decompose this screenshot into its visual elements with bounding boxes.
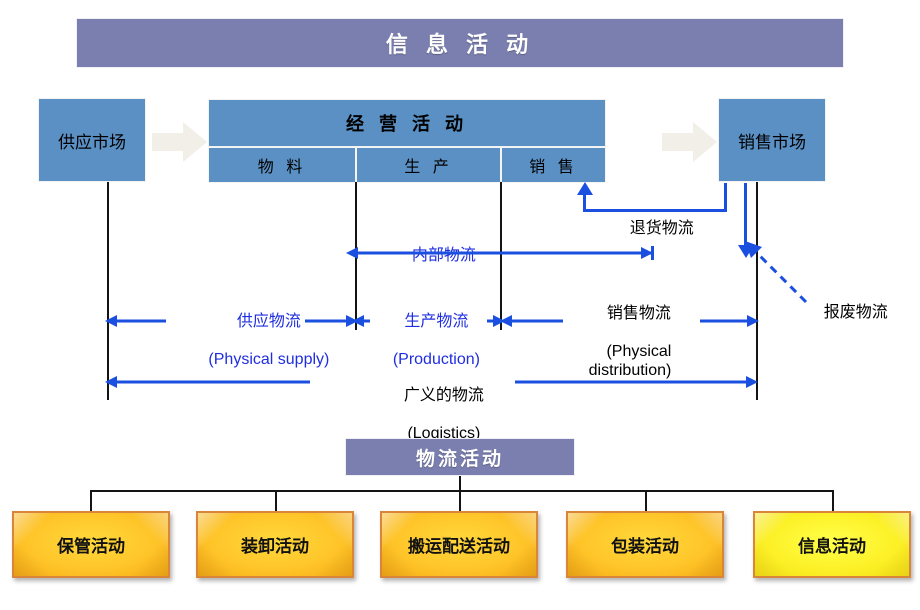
tree-horizontal-bar [90, 490, 834, 492]
diagram-canvas: 信 息 活 动 供应市场 经 营 活 动 物 料 生 产 销 售 销售市场 [0, 0, 920, 610]
scrap-logistics-label-text: 报废物流 [824, 304, 888, 321]
tree-branch-3 [459, 490, 461, 512]
sales-logistics-arrow-right-icon [700, 314, 760, 328]
sales-logistics-label-en: (Physical distribution) [589, 343, 672, 379]
production-logistics-arrow-left-icon [352, 314, 370, 328]
return-logistics-line-right [724, 183, 727, 212]
sales-logistics-arrow-left-icon [499, 314, 563, 328]
tree-branch-5 [832, 490, 834, 512]
business-to-sales-arrow-icon [662, 120, 718, 164]
activity-box-transport-delivery-label: 搬运配送活动 [408, 532, 510, 557]
supply-market-label: 供应市场 [58, 128, 126, 153]
supply-to-business-arrow-icon [152, 120, 208, 164]
sales-market-box[interactable]: 销售市场 [718, 98, 826, 182]
activity-box-storage[interactable]: 保管活动 [12, 511, 170, 578]
business-activity-header[interactable]: 经 营 活 动 [208, 99, 606, 147]
logistics-activity-banner: 物流活动 [345, 438, 575, 476]
business-column-production-label: 生 产 [404, 153, 452, 177]
activity-box-information[interactable]: 信息活动 [753, 511, 911, 578]
business-column-material-label: 物 料 [258, 153, 306, 177]
supply-logistics-label: 供应物流 (Physical supply) [175, 293, 345, 388]
activity-box-packaging[interactable]: 包装活动 [566, 511, 724, 578]
logistics-activity-banner-label: 物流活动 [416, 444, 504, 471]
tree-branch-1 [90, 490, 92, 512]
internal-logistics-arrow-icon [345, 246, 661, 260]
information-activity-banner-label: 信 息 活 动 [386, 27, 534, 59]
supply-logistics-arrow-right-icon [305, 314, 359, 328]
activity-box-packaging-label: 包装活动 [611, 532, 679, 557]
tree-branch-4 [645, 490, 647, 512]
activity-box-loading-label: 装卸活动 [241, 532, 309, 557]
activity-box-loading[interactable]: 装卸活动 [196, 511, 354, 578]
business-column-production[interactable]: 生 产 [356, 147, 501, 183]
return-logistics-label-text: 退货物流 [630, 220, 694, 237]
activity-box-storage-label: 保管活动 [57, 532, 125, 557]
activity-box-information-label: 信息活动 [798, 532, 866, 557]
broad-logistics-label-cn: 广义的物流 [404, 387, 484, 404]
business-column-sales[interactable]: 销 售 [501, 147, 606, 183]
business-activity-header-label: 经 营 活 动 [346, 110, 468, 136]
supply-logistics-label-cn: 供应物流 [237, 313, 301, 330]
sales-market-blue-drop-line [744, 183, 747, 247]
business-column-material[interactable]: 物 料 [208, 147, 356, 183]
broad-logistics-arrow-left-icon [104, 375, 310, 389]
sales-market-drop-arrowhead-icon [737, 243, 755, 259]
information-activity-banner: 信 息 活 动 [76, 18, 844, 68]
production-logistics-label-en: (Production) [393, 351, 480, 368]
broad-logistics-arrow-right-icon [515, 375, 759, 389]
scrap-logistics-label: 报废物流 [806, 284, 888, 341]
sales-market-label: 销售市场 [738, 128, 806, 153]
supply-market-box[interactable]: 供应市场 [38, 98, 146, 182]
supply-logistics-arrow-left-icon [104, 314, 166, 328]
business-column-sales-label: 销 售 [529, 153, 577, 177]
supply-logistics-label-en: (Physical supply) [208, 351, 329, 368]
activity-box-transport-delivery[interactable]: 搬运配送活动 [380, 511, 538, 578]
production-logistics-label-cn: 生产物流 [404, 313, 468, 330]
tree-trunk [459, 476, 461, 490]
sales-logistics-label-cn: 销售物流 [607, 305, 671, 322]
return-logistics-arrowhead-icon [576, 182, 594, 196]
tree-branch-2 [275, 490, 277, 512]
guide-line-supply-market [107, 182, 109, 400]
